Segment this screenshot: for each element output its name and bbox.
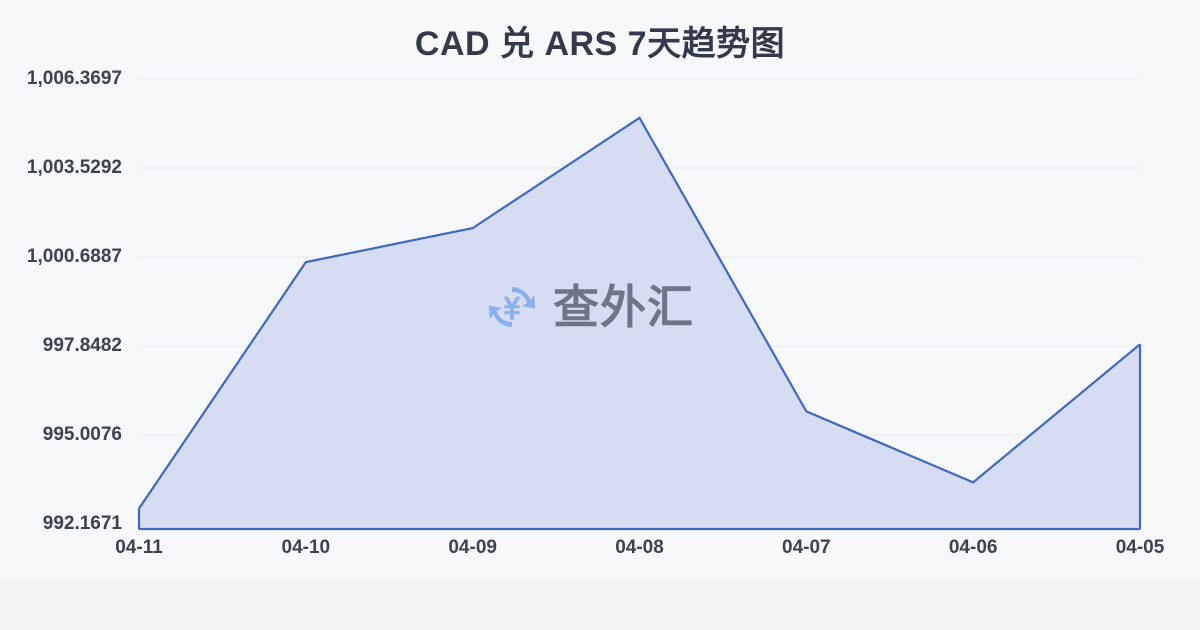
x-axis-tick-label: 04-09: [448, 537, 497, 559]
x-axis-tick-label: 04-06: [949, 537, 998, 559]
x-axis-tick-label: 04-10: [282, 537, 331, 559]
x-axis-tick-label: 04-11: [115, 537, 163, 559]
x-axis: 04-1104-1004-0904-0804-0704-0604-05: [0, 0, 1200, 578]
x-axis-tick-label: 04-05: [1116, 537, 1165, 559]
chart-panel: CAD 兑 ARS 7天趋势图 1,006.36971,003.52921,00…: [0, 0, 1200, 578]
x-axis-tick-label: 04-07: [782, 537, 831, 559]
x-axis-tick-label: 04-08: [615, 537, 664, 559]
chart-page: CAD 兑 ARS 7天趋势图 1,006.36971,003.52921,00…: [0, 0, 1200, 630]
